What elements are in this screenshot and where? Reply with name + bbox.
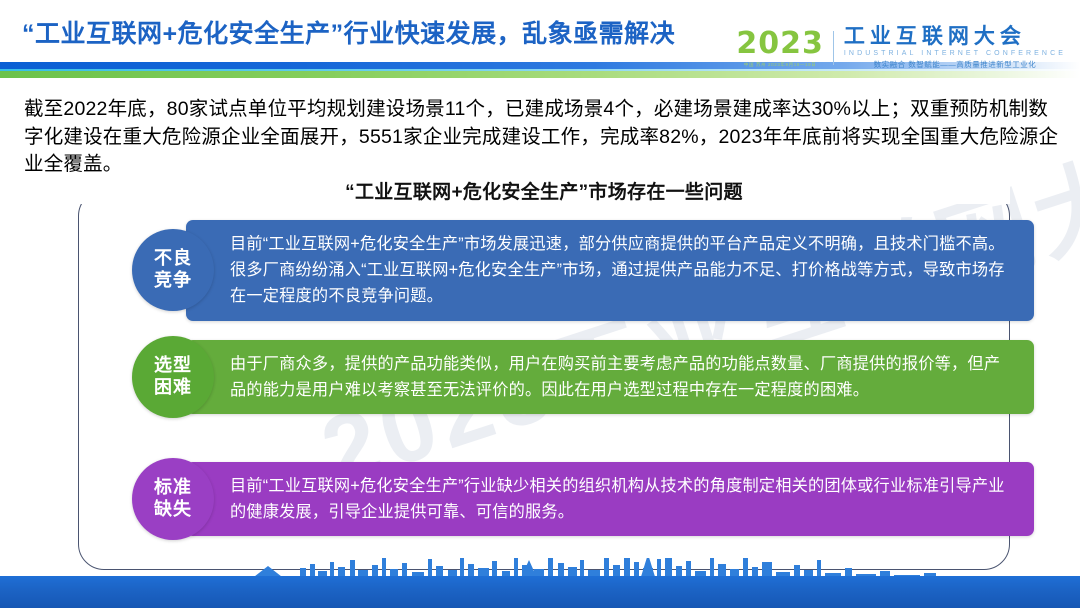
badge-line-2: 缺失 <box>154 499 192 521</box>
logo-name-cn: 工业互联网大会 <box>844 26 1066 48</box>
header-rule-green <box>0 71 1080 78</box>
problem-badge-selection-difficulty: 选型 困难 <box>132 336 214 418</box>
badge-line-1: 不良 <box>154 248 192 270</box>
slide-canvas: “工业互联网+危化安全生产”行业快速发展，乱象亟需解决 2023 中国 苏州 2… <box>0 0 1080 608</box>
problem-row-standards-missing: 标准 缺失 目前“工业互联网+危化安全生产”行业缺少相关的组织机构从技术的角度制… <box>132 458 1034 540</box>
lead-paragraph: 截至2022年底，80家试点单位平均规划建设场景11个，已建成场景4个，必建场景… <box>24 96 1060 179</box>
problem-text-selection-difficulty: 由于厂商众多，提供的产品功能类似，用户在购买前主要考虑产品的功能点数量、厂商提供… <box>186 340 1034 414</box>
badge-line-2: 困难 <box>154 377 192 399</box>
logo-divider <box>833 31 834 65</box>
logo-name-en: INDUSTRIAL INTERNET CONFERENCE <box>844 50 1066 57</box>
slide-header: “工业互联网+危化安全生产”行业快速发展，乱象亟需解决 2023 中国 苏州 2… <box>0 0 1080 84</box>
problem-text-standards-missing: 目前“工业互联网+危化安全生产”行业缺少相关的组织机构从技术的角度制定相关的团体… <box>186 462 1034 536</box>
badge-line-1: 选型 <box>154 355 192 377</box>
problem-row-bad-competition: 不良 竞争 目前“工业互联网+危化安全生产”市场发展迅速，部分供应商提供的平台产… <box>132 220 1034 321</box>
problem-row-selection-difficulty: 选型 困难 由于厂商众多，提供的产品功能类似，用户在购买前主要考虑产品的功能点数… <box>132 336 1034 418</box>
logo-year-block: 2023 中国 苏州 2023年9月18—19日 <box>736 29 833 68</box>
problem-badge-bad-competition: 不良 竞争 <box>132 229 214 311</box>
problem-badge-standards-missing: 标准 缺失 <box>132 458 214 540</box>
slide-footer <box>0 558 1080 608</box>
page-title: “工业互联网+危化安全生产”行业快速发展，乱象亟需解决 <box>22 14 675 50</box>
footer-band <box>0 576 1080 608</box>
badge-line-1: 标准 <box>154 477 192 499</box>
logo-tagline: 数实融合 数智赋能——高质量推进新型工业化 <box>844 59 1066 70</box>
conference-logo: 2023 中国 苏州 2023年9月18—19日 工业互联网大会 INDUSTR… <box>736 24 1066 72</box>
badge-line-2: 竞争 <box>154 270 192 292</box>
logo-year: 2023 <box>736 29 824 59</box>
problems-card-title: “工业互联网+危化安全生产”市场存在一些问题 <box>78 177 1010 204</box>
logo-name-block: 工业互联网大会 INDUSTRIAL INTERNET CONFERENCE 数… <box>844 26 1066 69</box>
problem-text-bad-competition: 目前“工业互联网+危化安全生产”市场发展迅速，部分供应商提供的平台产品定义不明确… <box>186 220 1034 321</box>
logo-year-subtitle: 中国 苏州 2023年9月18—19日 <box>744 62 816 68</box>
